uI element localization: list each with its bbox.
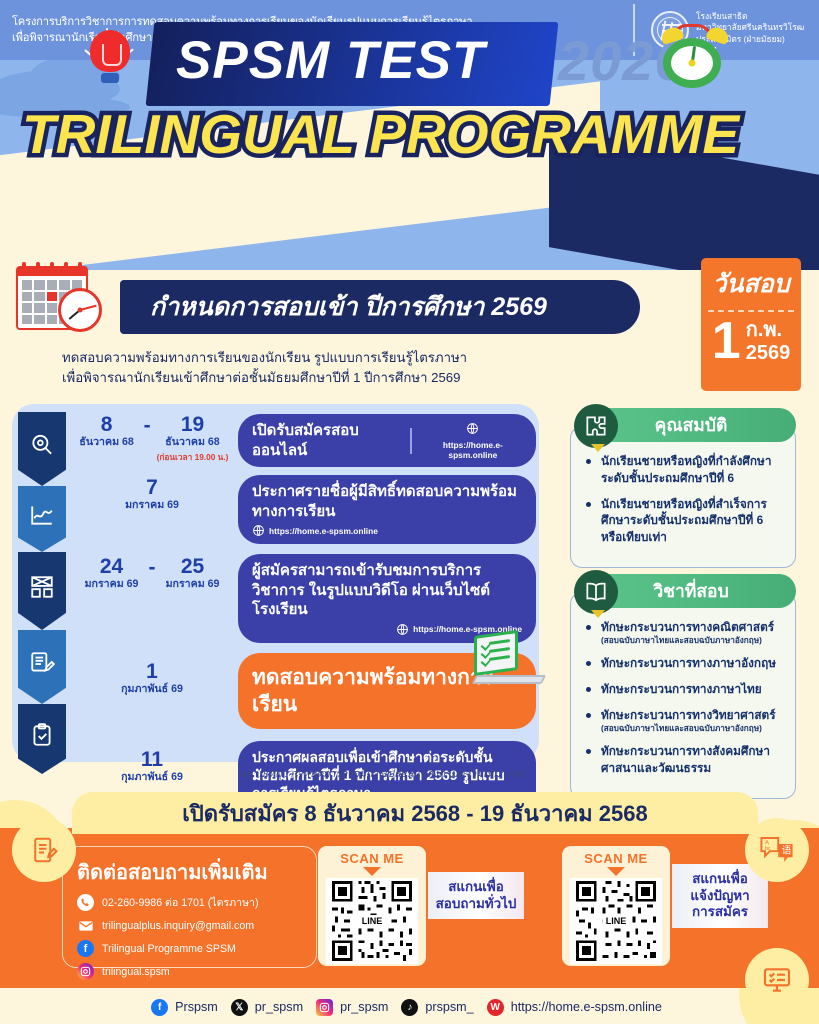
list-item: ทักษะกระบวนการทางวิทยาศาสตร์ (สอบฉบับภาษ… — [583, 707, 783, 734]
layout-grid-icon — [29, 574, 55, 600]
date-start-day: 1 — [66, 661, 238, 683]
qr-caption-line3: การสมัคร — [677, 904, 763, 921]
date-start-day: 24 — [81, 556, 143, 578]
contact-phone-text: 02-260-9986 ต่อ 1701 (ไตรภาษา) — [102, 894, 259, 911]
schedule-row-date: 8 ธันวาคม 68 - 19 ธันวาคม 68 (ก่อนเวลา 1… — [66, 412, 238, 464]
facebook-icon: f — [77, 940, 94, 957]
website-icon[interactable]: W — [487, 999, 504, 1016]
schedule-banner-text: กำหนดการสอบเข้า ปีการศึกษา 2569 — [150, 287, 547, 327]
subject-label: ทักษะกระบวนการทางภาษาอังกฤษ — [601, 656, 776, 670]
schedule-row-date: 1 กุมภาพันธ์ 69 — [66, 653, 238, 696]
language-bubbles-icon: A bc 语 — [745, 818, 809, 882]
globe-icon — [252, 524, 265, 537]
down-arrow-icon — [363, 867, 381, 876]
qr-card-issue[interactable]: SCAN ME — [562, 846, 670, 966]
qualifications-title: คุณสมบัติ — [655, 411, 728, 439]
subject-note: (สอบฉบับภาษาไทยและสอบฉบับภาษาอังกฤษ) — [601, 724, 783, 735]
date-start-day: 8 — [76, 414, 138, 436]
qr-card-general[interactable]: SCAN ME — [318, 846, 426, 966]
qualifications-card: คุณสมบัติ นักเรียนชายหรือหญิงที่กำลังศึก… — [556, 408, 796, 568]
social-label-tiktok: prspsm_ — [425, 1000, 473, 1014]
timeline-step-2 — [18, 486, 66, 552]
subjects-title: วิชาที่สอบ — [653, 577, 728, 605]
laptop-test-icon — [474, 633, 548, 695]
qr-label: LINE — [603, 915, 630, 927]
contact-item-phone[interactable]: 02-260-9986 ต่อ 1701 (ไตรภาษา) — [77, 894, 302, 911]
registration-band: เปิดรับสมัคร 8 ธันวาคม 2568 - 19 ธันวาคม… — [72, 792, 758, 834]
x-twitter-icon[interactable]: 𝕏 — [231, 999, 248, 1016]
hero-title-sub: TRILINGUAL PROGRAMME — [22, 102, 739, 166]
calendar-clock-icon — [16, 266, 100, 338]
school-name-line1: โรงเรียนสาธิต — [696, 11, 804, 22]
timeline-step-5 — [18, 704, 66, 774]
social-label-facebook: Prspsm — [175, 1000, 218, 1014]
subjects-card: วิชาที่สอบ ทักษะกระบวนการทางคณิตศาสตร์ (… — [556, 574, 796, 799]
poster-root: โครงการบริการวิชาการการทดสอบความพร้อมทาง… — [0, 0, 819, 1024]
date-start-month: มกราคม 69 — [66, 499, 238, 512]
subject-label: ทักษะกระบวนการทางวิทยาศาสตร์ — [601, 708, 776, 722]
schedule-row-text: ประกาศรายชื่อผู้มีสิทธิ์ทดสอบความพร้อมทา… — [252, 482, 522, 521]
schedule-row-pill: เปิดรับสมัครสอบออนไลน์ https://home.e-sp… — [238, 414, 536, 467]
list-item: นักเรียนชายหรือหญิงที่กำลังศึกษาระดับชั้… — [583, 453, 783, 487]
schedule-row: 24 มกราคม 69 - 25 มกราคม 69 ผู้สมัครสามา… — [66, 554, 536, 643]
qr-label: LINE — [359, 915, 386, 927]
schedule-row-text: เปิดรับสมัครสอบออนไลน์ — [252, 421, 398, 460]
date-start-month: กุมภาพันธ์ 69 — [66, 683, 238, 696]
contact-facebook-text: Trilingual Programme SPSM — [102, 943, 236, 955]
search-gear-icon — [29, 432, 55, 458]
qr-scan-label: SCAN ME — [323, 851, 421, 866]
qr-scan-label: SCAN ME — [567, 851, 665, 866]
date-start-day: 7 — [66, 477, 238, 499]
contact-instagram-text: trilingual.spsm — [102, 966, 170, 978]
qr-caption-general: สแกนเพื่อ สอบถามทั่วไป — [428, 872, 524, 919]
schedule-row-date: 7 มกราคม 69 — [66, 475, 238, 512]
qr-caption-line2: แจ้งปัญหา — [677, 888, 763, 905]
mail-icon — [77, 917, 94, 934]
social-label-x: pr_spsm — [255, 1000, 303, 1014]
hero-title-main: SPSM TEST — [176, 30, 485, 91]
date-start-month: มกราคม 69 — [81, 578, 143, 591]
schedule-row: 1 กุมภาพันธ์ 69 ทดสอบความพร้อมทางการเรีย… — [66, 653, 536, 730]
schedule-row-text: ผู้สมัครสามารถเข้ารับชมการบริการวิชาการ … — [252, 561, 522, 620]
social-strip: f Prspsm 𝕏 pr_spsm pr_spsm ♪ prspsm_ W h… — [0, 990, 819, 1024]
subject-label: ทักษะกระบวนการทางภาษาไทย — [601, 682, 762, 696]
alarm-clock-icon — [659, 24, 731, 90]
timeline-step-4 — [18, 630, 66, 704]
subject-label: ทักษะกระบวนการทางสังคมศึกษา ศาสนาและวัฒน… — [601, 744, 770, 775]
exam-date-badge: วันสอบ 1 ก.พ. 2569 — [701, 258, 801, 391]
list-item: ทักษะกระบวนการทางคณิตศาสตร์ (สอบฉบับภาษา… — [583, 619, 783, 646]
qr-code-image: LINE — [570, 878, 662, 964]
down-arrow-icon — [607, 867, 625, 876]
contact-item-email[interactable]: trilingualplus.inquiry@gmail.com — [77, 917, 302, 934]
schedule-row-url[interactable]: https://home.e-spsm.online — [269, 526, 378, 536]
date-end-month: ธันวาคม 68 — [157, 436, 229, 449]
schedule-row-url-wrap: https://home.e-spsm.online — [252, 524, 522, 537]
qr-code-image: LINE — [326, 878, 418, 964]
date-start-month: ธันวาคม 68 — [76, 436, 138, 449]
svg-text:bc: bc — [765, 846, 771, 852]
list-item: ทักษะกระบวนการทางภาษาอังกฤษ — [583, 655, 783, 672]
schedule-subtitle: ทดสอบความพร้อมทางการเรียนของนักเรียน รูป… — [62, 348, 582, 389]
lightbulb-icon — [86, 30, 134, 92]
subject-label: ทักษะกระบวนการทางคณิตศาสตร์ — [601, 620, 774, 634]
timeline-step-3 — [18, 552, 66, 630]
exam-date-year: 2569 — [746, 342, 791, 365]
instagram-icon[interactable] — [316, 999, 333, 1016]
schedule-row-pill: ทดสอบความพร้อมทางการเรียน — [238, 653, 536, 730]
list-item: ทักษะกระบวนการทางสังคมศึกษา ศาสนาและวัฒน… — [583, 743, 783, 777]
schedule-row-pill: ผู้สมัครสามารถเข้ารับชมการบริการวิชาการ … — [238, 554, 536, 643]
timeline-rail — [18, 412, 66, 774]
registration-band-text: เปิดรับสมัคร 8 ธันวาคม 2568 - 19 ธันวาคม… — [182, 796, 648, 831]
clipboard-check-icon — [29, 722, 55, 748]
qr-caption-line1: สแกนเพื่อ — [677, 871, 763, 888]
contact-card: ติดต่อสอบถามเพิ่มเติม 02-260-9986 ต่อ 17… — [62, 846, 317, 968]
exam-date-month: ก.พ. — [746, 319, 791, 342]
schedule-row: 7 มกราคม 69 ประกาศรายชื่อผู้มีสิทธิ์ทดสอ… — [66, 475, 536, 544]
list-item: นักเรียนชายหรือหญิงที่สำเร็จการศึกษาระดั… — [583, 496, 783, 546]
date-note: (ก่อนเวลา 19.00 น.) — [157, 450, 229, 464]
schedule-note: หมายเหตุ : กำหนดการอาจมีการเปลี่ยนแปลงตา… — [0, 765, 539, 782]
list-item: ทักษะกระบวนการทางภาษาไทย — [583, 681, 783, 698]
chart-line-icon — [29, 502, 55, 528]
tiktok-icon[interactable]: ♪ — [401, 999, 418, 1016]
qr-caption-line1: สแกนเพื่อ — [433, 879, 519, 896]
facebook-icon[interactable]: f — [151, 999, 168, 1016]
date-end-day: 25 — [162, 556, 224, 578]
qualifications-header: คุณสมบัติ — [586, 408, 796, 442]
schedule-banner: กำหนดการสอบเข้า ปีการศึกษา 2569 — [120, 280, 640, 334]
schedule-row-date: 24 มกราคม 69 - 25 มกราคม 69 — [66, 554, 238, 591]
timeline-step-1 — [18, 412, 66, 486]
contact-item-instagram[interactable]: trilingual.spsm — [77, 963, 302, 980]
globe-icon — [466, 422, 479, 435]
qr-caption-issue: สแกนเพื่อ แจ้งปัญหา การสมัคร — [672, 864, 768, 928]
instagram-icon — [77, 963, 94, 980]
date-end-month: มกราคม 69 — [162, 578, 224, 591]
social-label-instagram: pr_spsm — [340, 1000, 388, 1014]
contact-title: ติดต่อสอบถามเพิ่มเติม — [77, 856, 302, 888]
exam-paper-icon — [12, 818, 76, 882]
schedule-row: 8 ธันวาคม 68 - 19 ธันวาคม 68 (ก่อนเวลา 1… — [66, 412, 536, 467]
svg-text:语: 语 — [782, 846, 792, 857]
contact-item-facebook[interactable]: f Trilingual Programme SPSM — [77, 940, 302, 957]
contact-email-text: trilingualplus.inquiry@gmail.com — [102, 920, 254, 932]
schedule-subtitle-line1: ทดสอบความพร้อมทางการเรียนของนักเรียน รูป… — [62, 348, 582, 368]
subjects-body: ทักษะกระบวนการทางคณิตศาสตร์ (สอบฉบับภาษา… — [570, 592, 796, 799]
social-label-website: https://home.e-spsm.online — [511, 1000, 662, 1014]
date-separator: - — [144, 414, 151, 464]
schedule-subtitle-line2: เพื่อพิจารณานักเรียนเข้าศึกษาต่อชั้นมัธย… — [62, 368, 582, 388]
exam-date-day: 1 — [712, 318, 741, 366]
subject-note: (สอบฉบับภาษาไทยและสอบฉบับภาษาอังกฤษ) — [601, 636, 783, 647]
schedule-row-pill: ประกาศรายชื่อผู้มีสิทธิ์ทดสอบความพร้อมทา… — [238, 475, 536, 544]
open-book-icon — [574, 570, 618, 614]
date-separator: - — [149, 556, 156, 591]
subjects-header: วิชาที่สอบ — [586, 574, 796, 608]
schedule-row-url[interactable]: https://home.e-spsm.online — [424, 440, 522, 460]
exam-pencil-icon — [29, 650, 55, 676]
puzzle-pieces-icon — [574, 404, 618, 448]
globe-icon — [396, 623, 409, 636]
date-end-day: 19 — [157, 414, 229, 436]
phone-icon — [77, 894, 94, 911]
qr-caption-line2: สอบถามทั่วไป — [433, 896, 519, 913]
exam-date-label: วันสอบ — [708, 258, 794, 312]
